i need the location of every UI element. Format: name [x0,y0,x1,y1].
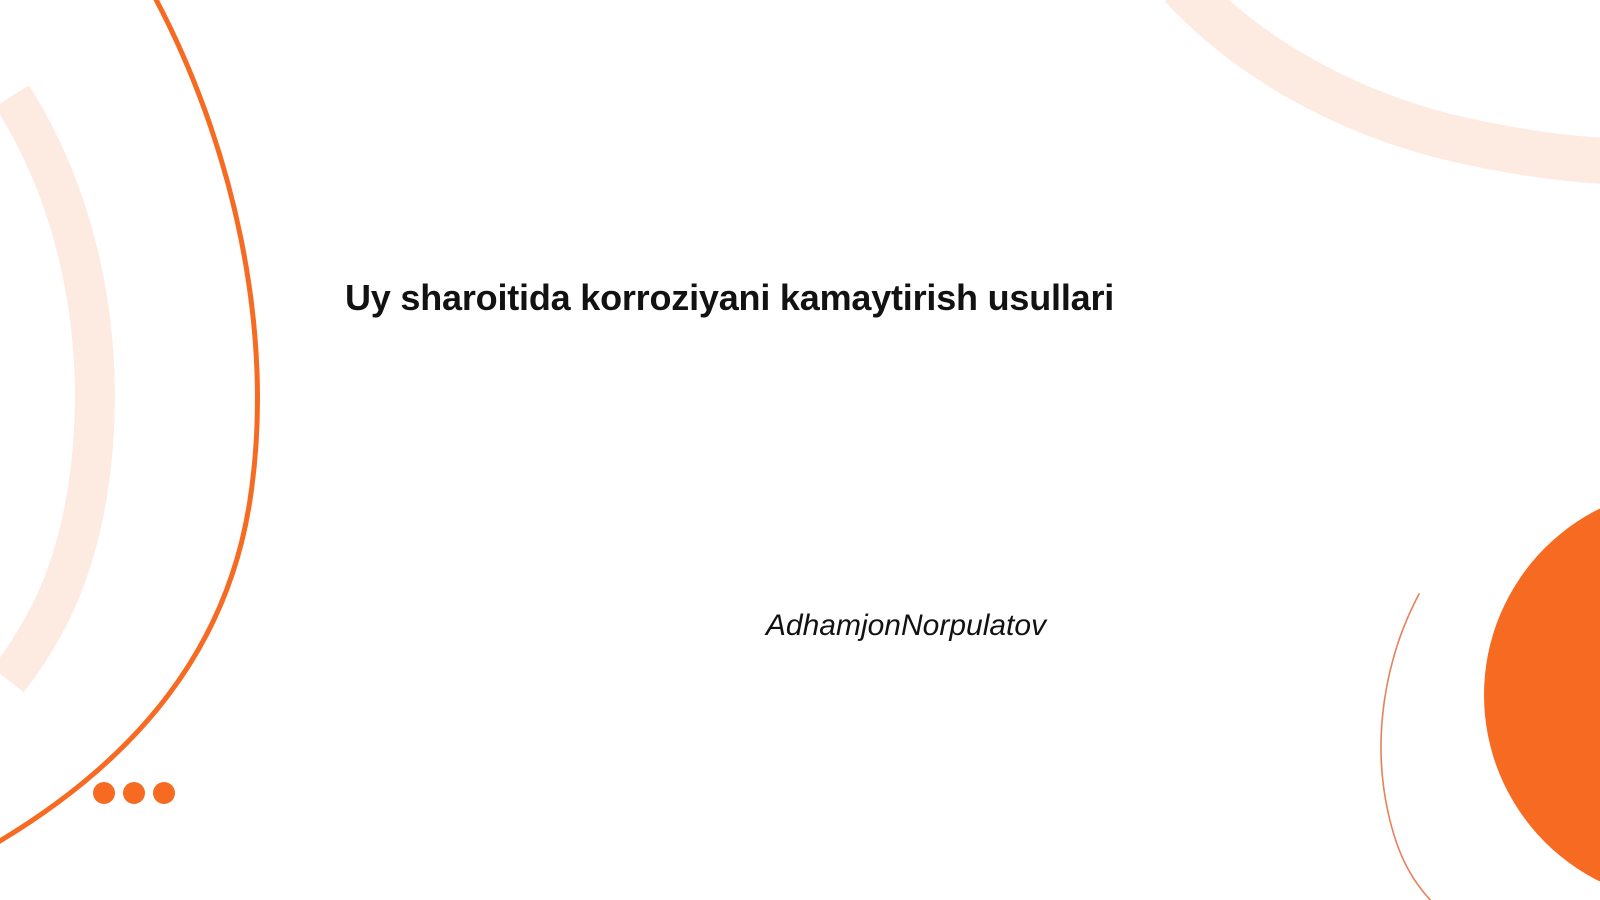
slide-title: Uy sharoitida korroziyani kamaytirish us… [345,276,1245,320]
slide-subtitle-author: AdhamjonNorpulatov [606,606,1206,646]
presentation-slide: Uy sharoitida korroziyani kamaytirish us… [0,0,1600,900]
slide-content: Uy sharoitida korroziyani kamaytirish us… [0,0,1600,900]
